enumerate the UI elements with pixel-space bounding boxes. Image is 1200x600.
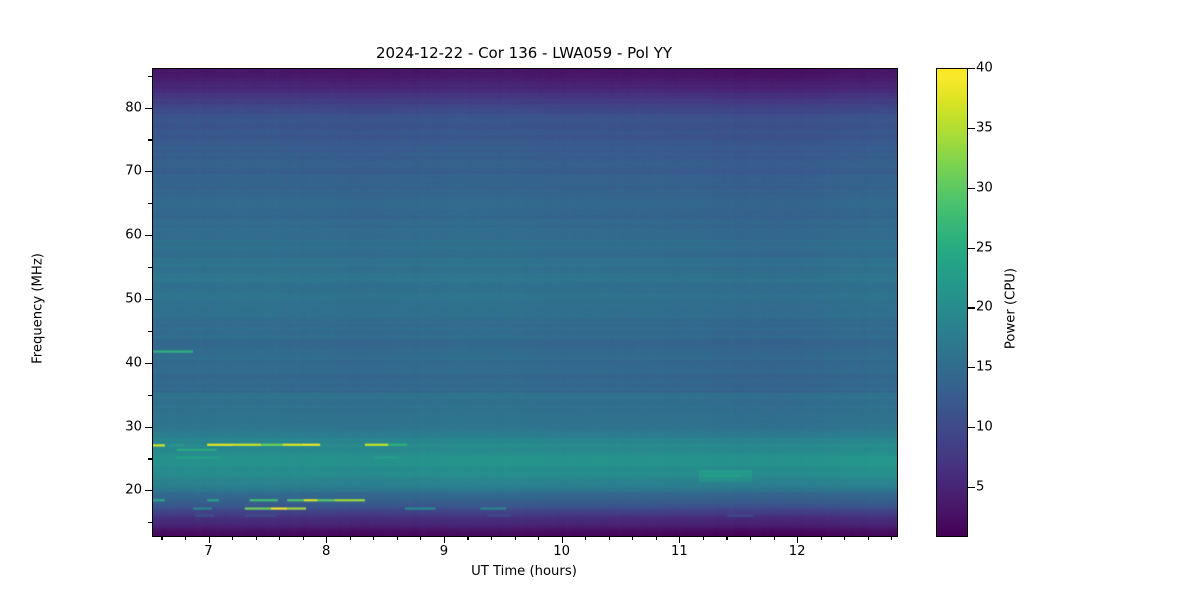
x-tick-label: 8 [296,544,356,559]
y-tick-mark [145,235,152,236]
x-tick-minor [491,536,492,540]
colorbar-axes[interactable] [936,68,968,537]
x-axis-label: UT Time (hours) [152,564,896,579]
x-tick-label: 9 [414,544,474,559]
x-tick-minor [609,536,610,540]
y-tick-mark [145,299,152,300]
y-tick-minor [148,76,152,77]
colorbar-tick-mark [968,248,975,249]
y-tick-minor [148,458,152,459]
colorbar-tick-mark [968,128,975,129]
y-tick-label: 60 [0,228,150,243]
x-tick-label: 11 [649,544,709,559]
colorbar-tick-mark [968,188,975,189]
x-tick-minor [821,536,822,540]
y-tick-minor [148,331,152,332]
x-tick-minor [538,536,539,540]
colorbar-tick-label: 40 [976,61,993,76]
colorbar-gradient [937,69,967,536]
colorbar-tick-label: 25 [976,240,993,255]
x-tick-minor [868,536,869,540]
colorbar-tick-mark [968,487,975,488]
colorbar-label: Power (CPU) [1004,129,1019,489]
chart-title: 2024-12-22 - Cor 136 - LWA059 - Pol YY [152,44,896,62]
colorbar-tick-mark [968,427,975,428]
y-tick-mark [145,363,152,364]
x-tick-minor [844,536,845,540]
y-tick-minor [148,395,152,396]
x-tick-minor [397,536,398,540]
y-tick-label: 40 [0,355,150,370]
x-tick-minor [161,536,162,540]
y-axis-label: Frequency (MHz) [31,129,46,489]
x-tick-minor [750,536,751,540]
x-tick-mark [679,536,680,543]
colorbar-tick-label: 15 [976,360,993,375]
x-tick-minor [774,536,775,540]
x-tick-minor [585,536,586,540]
x-tick-minor [303,536,304,540]
x-tick-minor [256,536,257,540]
y-tick-mark [145,108,152,109]
colorbar-tick-label: 35 [976,120,993,135]
y-tick-minor [148,203,152,204]
x-tick-minor [632,536,633,540]
x-tick-minor [656,536,657,540]
y-tick-mark [145,490,152,491]
x-tick-label: 7 [179,544,239,559]
colorbar-tick-label: 10 [976,420,993,435]
x-tick-minor [185,536,186,540]
y-tick-label: 30 [0,419,150,434]
x-tick-mark [562,536,563,543]
colorbar-tick-mark [968,367,975,368]
spectrogram-image [153,69,897,536]
y-tick-label: 70 [0,164,150,179]
colorbar-tick-label: 5 [976,480,984,495]
figure-canvas: 2024-12-22 - Cor 136 - LWA059 - Pol YY 2… [0,0,1200,600]
x-tick-minor [703,536,704,540]
spectrogram-axes[interactable] [152,68,898,537]
x-tick-mark [326,536,327,543]
x-tick-label: 12 [767,544,827,559]
x-tick-minor [726,536,727,540]
x-tick-minor [232,536,233,540]
x-tick-minor [420,536,421,540]
y-tick-minor [148,267,152,268]
y-tick-label: 20 [0,483,150,498]
x-tick-mark [444,536,445,543]
x-tick-minor [350,536,351,540]
colorbar-tick-mark [968,68,975,69]
colorbar-tick-label: 30 [976,180,993,195]
x-tick-minor [279,536,280,540]
y-tick-minor [148,522,152,523]
y-tick-mark [145,171,152,172]
x-tick-minor [467,536,468,540]
y-tick-mark [145,427,152,428]
x-tick-mark [209,536,210,543]
y-tick-minor [148,139,152,140]
x-tick-minor [373,536,374,540]
x-tick-mark [797,536,798,543]
x-tick-label: 10 [532,544,592,559]
y-tick-label: 80 [0,100,150,115]
x-tick-minor [515,536,516,540]
y-tick-label: 50 [0,291,150,306]
colorbar-tick-mark [968,307,975,308]
x-tick-minor [891,536,892,540]
colorbar-tick-label: 20 [976,300,993,315]
